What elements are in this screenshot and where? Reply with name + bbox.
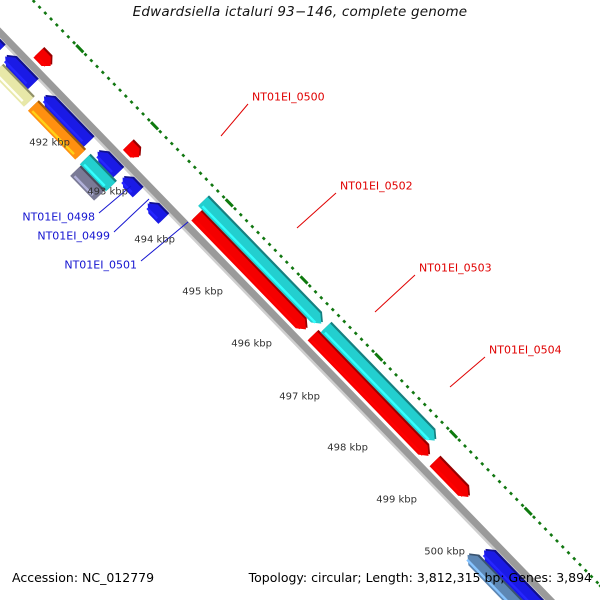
ruler-label: 493 kbp	[87, 187, 128, 198]
ruler-tick-minor	[165, 137, 167, 139]
ruler-label: 499 kbp	[376, 495, 417, 506]
gene-label-leader	[450, 357, 485, 387]
ruler-tick-minor	[447, 427, 449, 429]
ruler-tick-minor	[148, 119, 150, 121]
gene-feature[interactable]	[191, 210, 307, 330]
ruler-tick-major	[375, 353, 382, 360]
ruler-tick-minor	[493, 475, 495, 477]
ruler-tick-minor	[406, 386, 408, 388]
ruler-tick-minor	[424, 403, 426, 405]
ruler-tick-minor	[504, 486, 506, 488]
ruler-tick-major	[450, 431, 457, 438]
ruler-tick-minor	[314, 291, 316, 293]
ruler-label: 492 kbp	[29, 138, 70, 149]
ruler-tick-minor	[125, 95, 127, 97]
ruler-tick-minor	[562, 546, 564, 548]
ruler-tick-minor	[56, 24, 58, 26]
ruler-tick-minor	[85, 54, 87, 56]
ruler-tick-minor	[521, 504, 523, 506]
gene-label-nt01ei_0498[interactable]: NT01EI_0498	[22, 211, 95, 224]
ruler-label: 494 kbp	[134, 235, 175, 246]
ruler-tick-minor	[567, 552, 569, 554]
ruler-tick-minor	[177, 148, 179, 150]
ruler-tick-minor	[550, 534, 552, 536]
gene-feature[interactable]	[430, 456, 470, 497]
ruler-label: 496 kbp	[231, 339, 272, 350]
ruler-tick-minor	[113, 83, 115, 85]
ruler-tick-minor	[188, 160, 190, 162]
gene-label-nt01ei_0504[interactable]: NT01EI_0504	[489, 344, 562, 357]
ruler-tick-minor	[268, 243, 270, 245]
ruler-tick-minor	[332, 309, 334, 311]
ruler-tick-minor	[194, 166, 196, 168]
ruler-tick-minor	[355, 332, 357, 334]
ruler-tick-minor	[119, 89, 121, 91]
ruler-tick-minor	[349, 326, 351, 328]
ruler-tick-minor	[199, 172, 201, 174]
gene-label-nt01ei_0501[interactable]: NT01EI_0501	[64, 259, 137, 272]
gene-body[interactable]	[308, 331, 429, 455]
ruler-tick-major	[226, 199, 233, 206]
ruler-tick-minor	[222, 196, 224, 198]
gene-feature[interactable]	[33, 47, 52, 66]
ruler-tick-minor	[136, 107, 138, 109]
ruler-tick-minor	[297, 273, 299, 275]
gene-label-nt01ei_0502[interactable]: NT01EI_0502	[340, 180, 413, 193]
ruler-tick-minor	[498, 481, 500, 483]
page-title: Edwardsiella ictaluri 93−146, complete g…	[0, 4, 600, 20]
gene-feature[interactable]	[123, 139, 141, 157]
ruler-tick-minor	[33, 0, 35, 2]
ruler-tick-minor	[211, 184, 213, 186]
ruler-tick-minor	[96, 65, 98, 67]
ruler-tick-minor	[280, 255, 282, 257]
ruler-tick-minor	[360, 338, 362, 340]
ruler-tick-minor	[441, 421, 443, 423]
genome-map-viewer[interactable]: Edwardsiella ictaluri 93−146, complete g…	[0, 0, 600, 600]
ruler-tick-minor	[257, 231, 259, 233]
ruler-tick-minor	[429, 409, 431, 411]
ruler-tick-major	[76, 45, 83, 52]
ruler-label: 497 kbp	[279, 392, 320, 403]
ruler-tick-minor	[182, 154, 184, 156]
gene-label-leader	[114, 199, 149, 232]
gene-label-nt01ei_0500[interactable]: NT01EI_0500	[252, 91, 325, 104]
gene-label-nt01ei_0499[interactable]: NT01EI_0499	[37, 230, 110, 243]
ruler-tick-minor	[320, 297, 322, 299]
ruler-tick-minor	[458, 439, 460, 441]
ruler-tick-minor	[274, 249, 276, 251]
ruler-tick-minor	[510, 492, 512, 494]
gene-label-leader	[297, 193, 336, 228]
leader-lines-group	[99, 104, 485, 387]
ruler-tick-major	[301, 276, 308, 283]
ruler-tick-major	[525, 508, 532, 515]
ruler-tick-minor	[366, 344, 368, 346]
backbone-highlight	[0, 20, 554, 600]
ruler-tick-minor	[337, 314, 339, 316]
ruler-tick-minor	[573, 558, 575, 560]
ruler-tick-minor	[108, 77, 110, 79]
ruler-tick-minor	[383, 362, 385, 364]
gene-label-leader	[375, 275, 415, 312]
gene-highlight	[312, 341, 423, 455]
ruler-tick-minor	[533, 516, 535, 518]
ruler-tick-minor	[67, 36, 69, 38]
ruler-tick-minor	[418, 398, 420, 400]
ruler-tick-minor	[516, 498, 518, 500]
ruler-tick-minor	[556, 540, 558, 542]
genome-summary-text: Topology: circular; Length: 3,812,315 bp…	[249, 570, 592, 585]
ruler-tick-minor	[464, 445, 466, 447]
ruler-tick-minor	[395, 374, 397, 376]
ruler-tick-minor	[579, 564, 581, 566]
ruler-tick-minor	[291, 267, 293, 269]
ruler-tick-minor	[481, 463, 483, 465]
gene-label-nt01ei_0503[interactable]: NT01EI_0503	[419, 262, 492, 275]
ruler-tick-minor	[159, 131, 161, 133]
gene-body[interactable]	[191, 211, 306, 329]
ruler-tick-minor	[142, 113, 144, 115]
ruler-tick-minor	[326, 303, 328, 305]
ruler-tick-minor	[62, 30, 64, 32]
ruler-tick-minor	[205, 178, 207, 180]
ruler-tick-minor	[309, 285, 311, 287]
ruler-tick-minor	[263, 237, 265, 239]
ruler-label: 498 kbp	[327, 443, 368, 454]
ruler-tick-minor	[343, 320, 345, 322]
ruler-tick-minor	[412, 392, 414, 394]
ruler-tick-minor	[131, 101, 133, 103]
ruler-tick-minor	[539, 522, 541, 524]
ruler-tick-minor	[102, 71, 104, 73]
gene-label-leader	[221, 104, 248, 136]
ruler-tick-minor	[372, 350, 374, 352]
ruler-tick-minor	[401, 380, 403, 382]
ruler-tick-minor	[234, 208, 236, 210]
ruler-tick-minor	[217, 190, 219, 192]
ruler-tick-minor	[73, 42, 75, 44]
ruler-tick-minor	[90, 59, 92, 61]
status-bar: Accession: NC_012779 Topology: circular;…	[0, 570, 600, 600]
ruler-tick-minor	[251, 226, 253, 228]
ruler-tick-minor	[475, 457, 477, 459]
ruler-tick-minor	[245, 220, 247, 222]
ruler-tick-minor	[171, 142, 173, 144]
ruler-tick-minor	[487, 469, 489, 471]
ruler-label: 495 kbp	[182, 287, 223, 298]
ruler-tick-minor	[240, 214, 242, 216]
ruler-label: 500 kbp	[424, 547, 465, 558]
ruler-tick-minor	[389, 368, 391, 370]
ruler-tick-major	[151, 122, 158, 129]
ruler-tick-minor	[544, 528, 546, 530]
ruler-tick-minor	[286, 261, 288, 263]
accession-text: Accession: NC_012779	[12, 570, 154, 585]
ruler-tick-minor	[435, 415, 437, 417]
ruler-tick-minor	[470, 451, 472, 453]
